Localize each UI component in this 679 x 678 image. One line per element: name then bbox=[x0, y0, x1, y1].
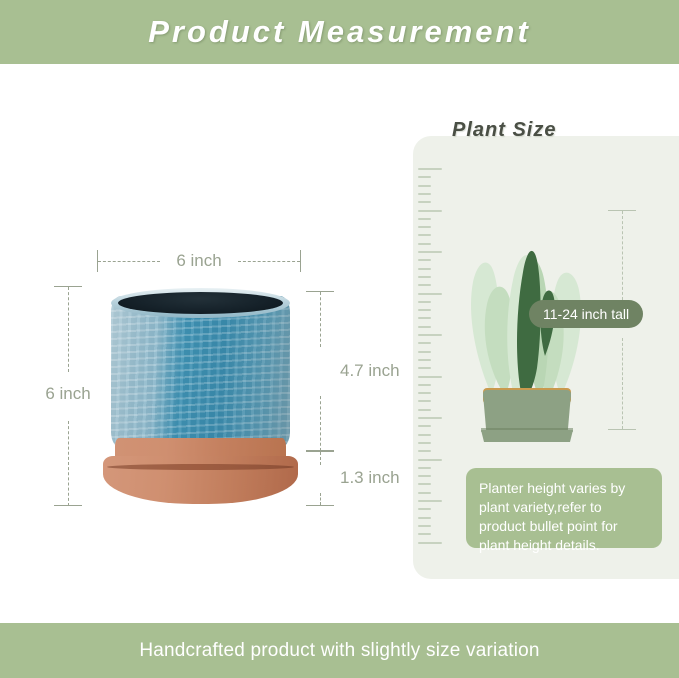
dimension-body-height-label: 4.7 inch bbox=[340, 361, 400, 381]
header-bar: Product Measurement bbox=[0, 0, 679, 64]
ruler-tick bbox=[418, 185, 431, 187]
ruler-tick bbox=[418, 376, 442, 378]
height-dash-upper bbox=[622, 211, 623, 305]
ruler-tick bbox=[418, 533, 431, 535]
ruler-tick bbox=[418, 193, 431, 195]
ruler-tick bbox=[418, 525, 431, 527]
plant-height-note: Planter height varies by plant variety,r… bbox=[466, 468, 662, 548]
ruler-tick bbox=[418, 309, 431, 311]
plant-height-note-text: Planter height varies by plant variety,r… bbox=[479, 479, 649, 555]
ruler-tick bbox=[418, 210, 442, 212]
height-cap-bottom bbox=[608, 429, 636, 430]
plant-size-title: Plant Size bbox=[452, 119, 556, 142]
ruler-tick bbox=[418, 475, 431, 477]
ruler-tick bbox=[418, 384, 431, 386]
dimension-width-label: 6 inch bbox=[97, 250, 301, 272]
ruler-tick bbox=[418, 467, 431, 469]
ruler-tick bbox=[418, 409, 431, 411]
height-dash-lower bbox=[622, 338, 623, 429]
ruler-tick bbox=[418, 359, 431, 361]
ruler-tick bbox=[418, 176, 431, 178]
dimension-total-height: 6 inch bbox=[54, 286, 82, 506]
ruler-tick bbox=[418, 492, 431, 494]
ruler-tick bbox=[418, 351, 431, 353]
dimension-dash-lower bbox=[68, 421, 69, 506]
ruler-tick bbox=[418, 508, 431, 510]
dimension-saucer-height-label: 1.3 inch bbox=[340, 468, 400, 488]
ruler-tick bbox=[418, 400, 431, 402]
footer-note: Handcrafted product with slightly size v… bbox=[139, 640, 539, 662]
ruler-tick bbox=[418, 367, 431, 369]
ruler-tick bbox=[418, 417, 442, 419]
ruler-tick bbox=[418, 201, 431, 203]
dimension-dash-lower bbox=[320, 396, 321, 451]
pot-body bbox=[111, 296, 290, 448]
dimension-saucer-height: 1.3 inch bbox=[306, 451, 334, 506]
dimension-dash-upper bbox=[320, 452, 321, 465]
ruler-tick bbox=[418, 442, 431, 444]
ruler-tick bbox=[418, 243, 431, 245]
dimension-total-height-label: 6 inch bbox=[44, 384, 92, 404]
ruler-tick bbox=[418, 268, 431, 270]
ruler-tick bbox=[418, 168, 442, 170]
plant-size-card: 11-24 inch tall Planter height varies by… bbox=[413, 136, 679, 579]
plant-height-badge: 11-24 inch tall bbox=[529, 300, 643, 328]
dimension-width: 6 inch bbox=[97, 250, 301, 276]
ruler-tick bbox=[418, 251, 442, 253]
ceramic-pot-illustration bbox=[103, 288, 298, 504]
ruler-tick bbox=[418, 483, 431, 485]
pot-measurement-section: 6 inch 6 inch 4.7 inch 1.3 inch bbox=[0, 64, 400, 623]
ruler-tick bbox=[418, 326, 431, 328]
dimension-body-height: 4.7 inch bbox=[306, 291, 334, 451]
plant-height-indicator: 11-24 inch tall bbox=[605, 210, 639, 430]
ruler-tick bbox=[418, 317, 431, 319]
ruler-tick bbox=[418, 392, 431, 394]
ruler-tick bbox=[418, 500, 442, 502]
footer-bar: Handcrafted product with slightly size v… bbox=[0, 623, 679, 678]
pot-opening bbox=[118, 292, 283, 314]
ruler-tick bbox=[418, 334, 442, 336]
ruler-tick bbox=[418, 234, 431, 236]
dimension-dash-upper bbox=[68, 287, 69, 372]
ruler-tick bbox=[418, 517, 431, 519]
ruler-tick bbox=[418, 218, 431, 220]
ruler-tick bbox=[418, 301, 431, 303]
dimension-dash-upper bbox=[320, 292, 321, 347]
ruler-icon bbox=[418, 168, 444, 550]
ruler-tick bbox=[418, 434, 431, 436]
ruler-tick bbox=[418, 459, 442, 461]
ruler-tick bbox=[418, 542, 442, 544]
ruler-tick bbox=[418, 259, 431, 261]
ruler-tick bbox=[418, 226, 431, 228]
ruler-tick bbox=[418, 450, 431, 452]
dimension-dash-lower bbox=[320, 493, 321, 505]
dimension-cap-bottom bbox=[306, 505, 334, 506]
ruler-tick bbox=[418, 284, 431, 286]
page-title: Product Measurement bbox=[148, 14, 531, 50]
ruler-tick bbox=[418, 293, 442, 295]
ruler-tick bbox=[418, 342, 431, 344]
saucer-seam bbox=[107, 464, 294, 470]
ruler-tick bbox=[418, 276, 431, 278]
ruler-tick bbox=[418, 425, 431, 427]
